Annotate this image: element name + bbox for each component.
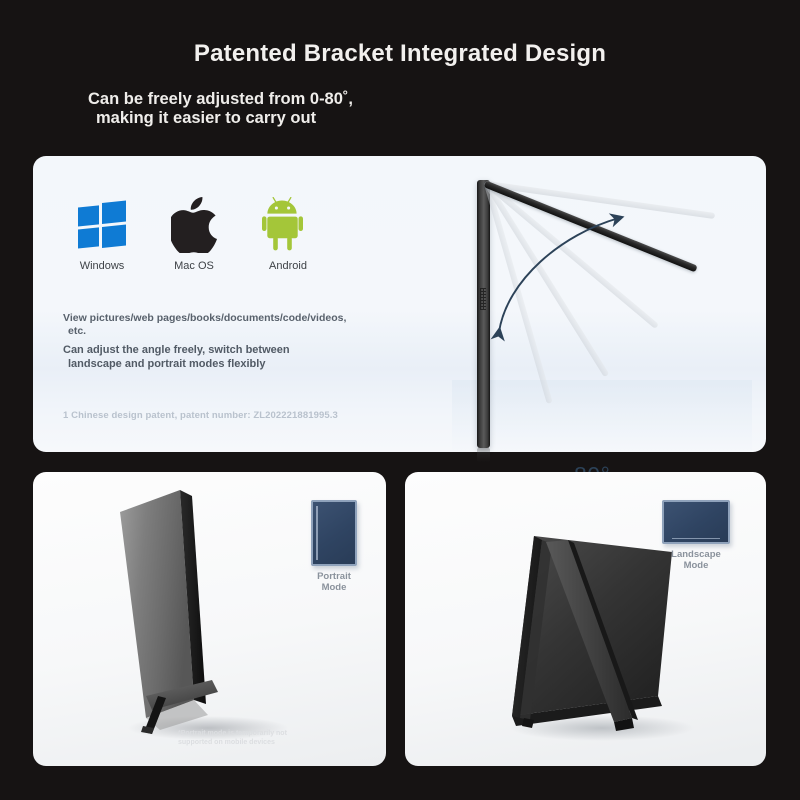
portrait-stand-product-render (100, 482, 310, 747)
disclaimer-line-2: supported on mobile devices (178, 738, 378, 747)
portrait-caption-line-2: Mode (293, 582, 375, 593)
feature-1-line-1: View pictures/web pages/books/documents/… (63, 312, 346, 324)
portrait-mode-thumbnail: Portrait Mode (293, 500, 375, 593)
landscape-tablet-icon (662, 500, 730, 544)
page-subtitle: Can be freely adjusted from 0-80˚, makin… (88, 90, 728, 128)
patent-note: 1 Chinese design patent, patent number: … (63, 410, 423, 421)
apple-logo-icon (148, 196, 240, 254)
os-item-android: Android (242, 196, 334, 272)
os-item-macos: Mac OS (148, 196, 240, 272)
landscape-mode-thumbnail: Landscape Mode (650, 500, 742, 571)
windows-logo-icon (56, 196, 148, 254)
subtitle-line-1: Can be freely adjusted from 0-80˚, (88, 90, 353, 108)
promo-image-root: Patented Bracket Integrated Design Can b… (0, 0, 800, 800)
portrait-caption-line-1: Portrait (293, 571, 375, 582)
disclaimer-line-1: *Portrait mode is temporarily not (178, 729, 378, 738)
feature-text-usage: View pictures/web pages/books/documents/… (63, 312, 393, 338)
feature-text-angle: Can adjust the angle freely, switch betw… (63, 344, 393, 371)
os-compatibility-row: Windows Mac OS (56, 196, 336, 286)
feature-2-line-2: landscape and portrait modes flexibly (63, 358, 393, 372)
os-label-android: Android (242, 260, 334, 272)
page-title: Patented Bracket Integrated Design (0, 40, 800, 68)
landscape-caption-line-2: Mode (650, 560, 742, 571)
portrait-tablet-icon (311, 500, 357, 566)
os-label-macos: Mac OS (148, 260, 240, 272)
portrait-mode-caption: Portrait Mode (293, 571, 375, 593)
os-label-windows: Windows (56, 260, 148, 272)
portrait-mode-disclaimer: *Portrait mode is temporarily not suppor… (178, 729, 378, 747)
landscape-caption-line-1: Landscape (650, 549, 742, 560)
subtitle-line-2: making it easier to carry out (88, 109, 728, 128)
hinge-angle-diagram: 80° (452, 162, 752, 452)
feature-2-line-1: Can adjust the angle freely, switch betw… (63, 344, 290, 356)
landscape-mode-caption: Landscape Mode (650, 549, 742, 571)
os-item-windows: Windows (56, 196, 148, 272)
angle-arc-arrow-icon (452, 162, 752, 452)
android-logo-icon (242, 196, 334, 254)
feature-1-line-2: etc. (63, 325, 393, 338)
